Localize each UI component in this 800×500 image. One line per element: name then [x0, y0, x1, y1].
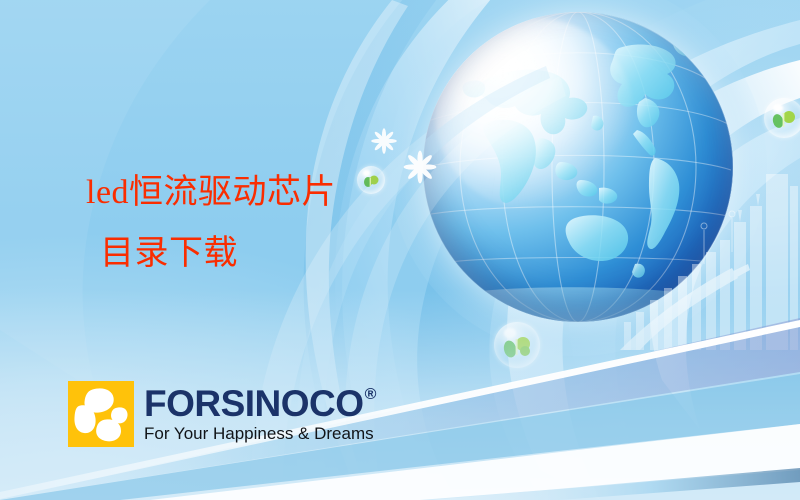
page-title: led恒流驱动芯片 目录下载: [86, 162, 336, 284]
brand-name: FORSINOCO ®: [144, 384, 376, 423]
logo-text-block: FORSINOCO ® For Your Happiness & Dreams: [144, 384, 376, 444]
registered-trademark-icon: ®: [365, 387, 376, 403]
headline-line-2: 目录下载: [86, 223, 336, 284]
headline-line-1: led恒流驱动芯片: [86, 162, 336, 223]
promo-banner: led恒流驱动芯片 目录下载 FORSINOCO ®: [0, 0, 800, 500]
company-logo: FORSINOCO ® For Your Happiness & Dreams: [68, 381, 376, 447]
brand-tagline: For Your Happiness & Dreams: [144, 424, 376, 444]
brand-name-text: FORSINOCO: [144, 384, 364, 423]
forsinoco-flower-icon: [68, 381, 134, 447]
